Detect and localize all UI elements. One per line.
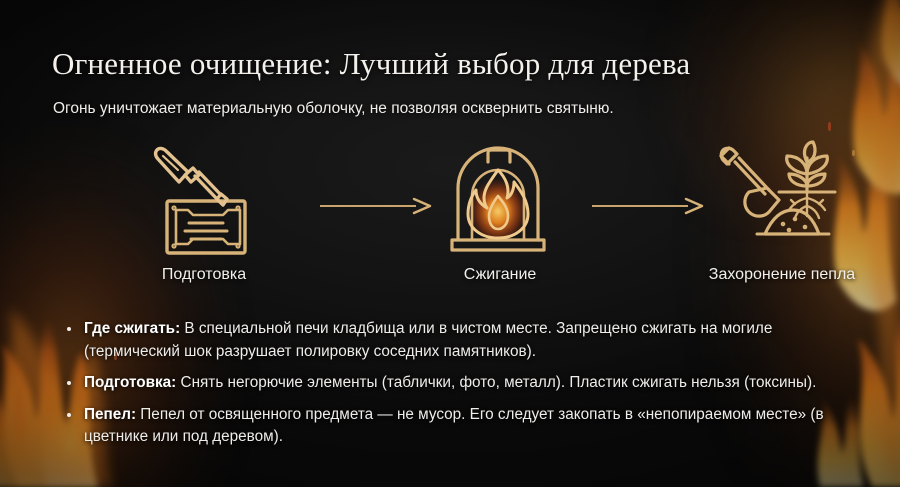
step-burning: Сжигание [410, 140, 590, 284]
page-title: Огненное очищение: Лучший выбор для дере… [52, 45, 852, 83]
slide: Огненное очищение: Лучший выбор для дере… [0, 0, 900, 487]
step-label: Захоронение пепла [692, 266, 872, 284]
step-label: Подготовка [114, 266, 294, 284]
bullet-marker [67, 413, 71, 417]
step-ash-burial: Захоронение пепла [692, 140, 872, 284]
slide-content: Огненное очищение: Лучший выбор для дере… [0, 0, 900, 487]
bullet-text: Снять негорючие элементы (таблички, фото… [176, 374, 816, 391]
arrow-step-2-to-3 [592, 197, 704, 215]
list-item: Подготовка: Снять негорючие элементы (та… [64, 372, 864, 395]
list-item: Пепел: Пепел от освященного предмета — н… [64, 404, 864, 449]
list-item: Где сжигать: В специальной печи кладбища… [64, 318, 864, 363]
process-steps: Подготовка [52, 140, 852, 305]
shovel-plant-soil-icon [692, 140, 872, 260]
bullet-list: Где сжигать: В специальной печи кладбища… [64, 318, 864, 449]
step-preparation: Подготовка [114, 140, 294, 284]
step-label: Сжигание [410, 266, 590, 284]
bullet-marker [67, 381, 71, 385]
bullet-marker [67, 327, 71, 331]
furnace-flame-icon [410, 140, 590, 260]
bullet-text: Пепел от освященного предмета — не мусор… [84, 406, 824, 446]
bullet-lead: Подготовка: [84, 374, 176, 391]
bullet-text: В специальной печи кладбища или в чистом… [84, 320, 772, 360]
bullet-lead: Где сжигать: [84, 320, 180, 337]
screwdriver-plaque-icon [114, 140, 294, 260]
bullet-lead: Пепел: [84, 406, 136, 423]
page-subtitle: Огонь уничтожает материальную оболочку, … [53, 98, 863, 120]
